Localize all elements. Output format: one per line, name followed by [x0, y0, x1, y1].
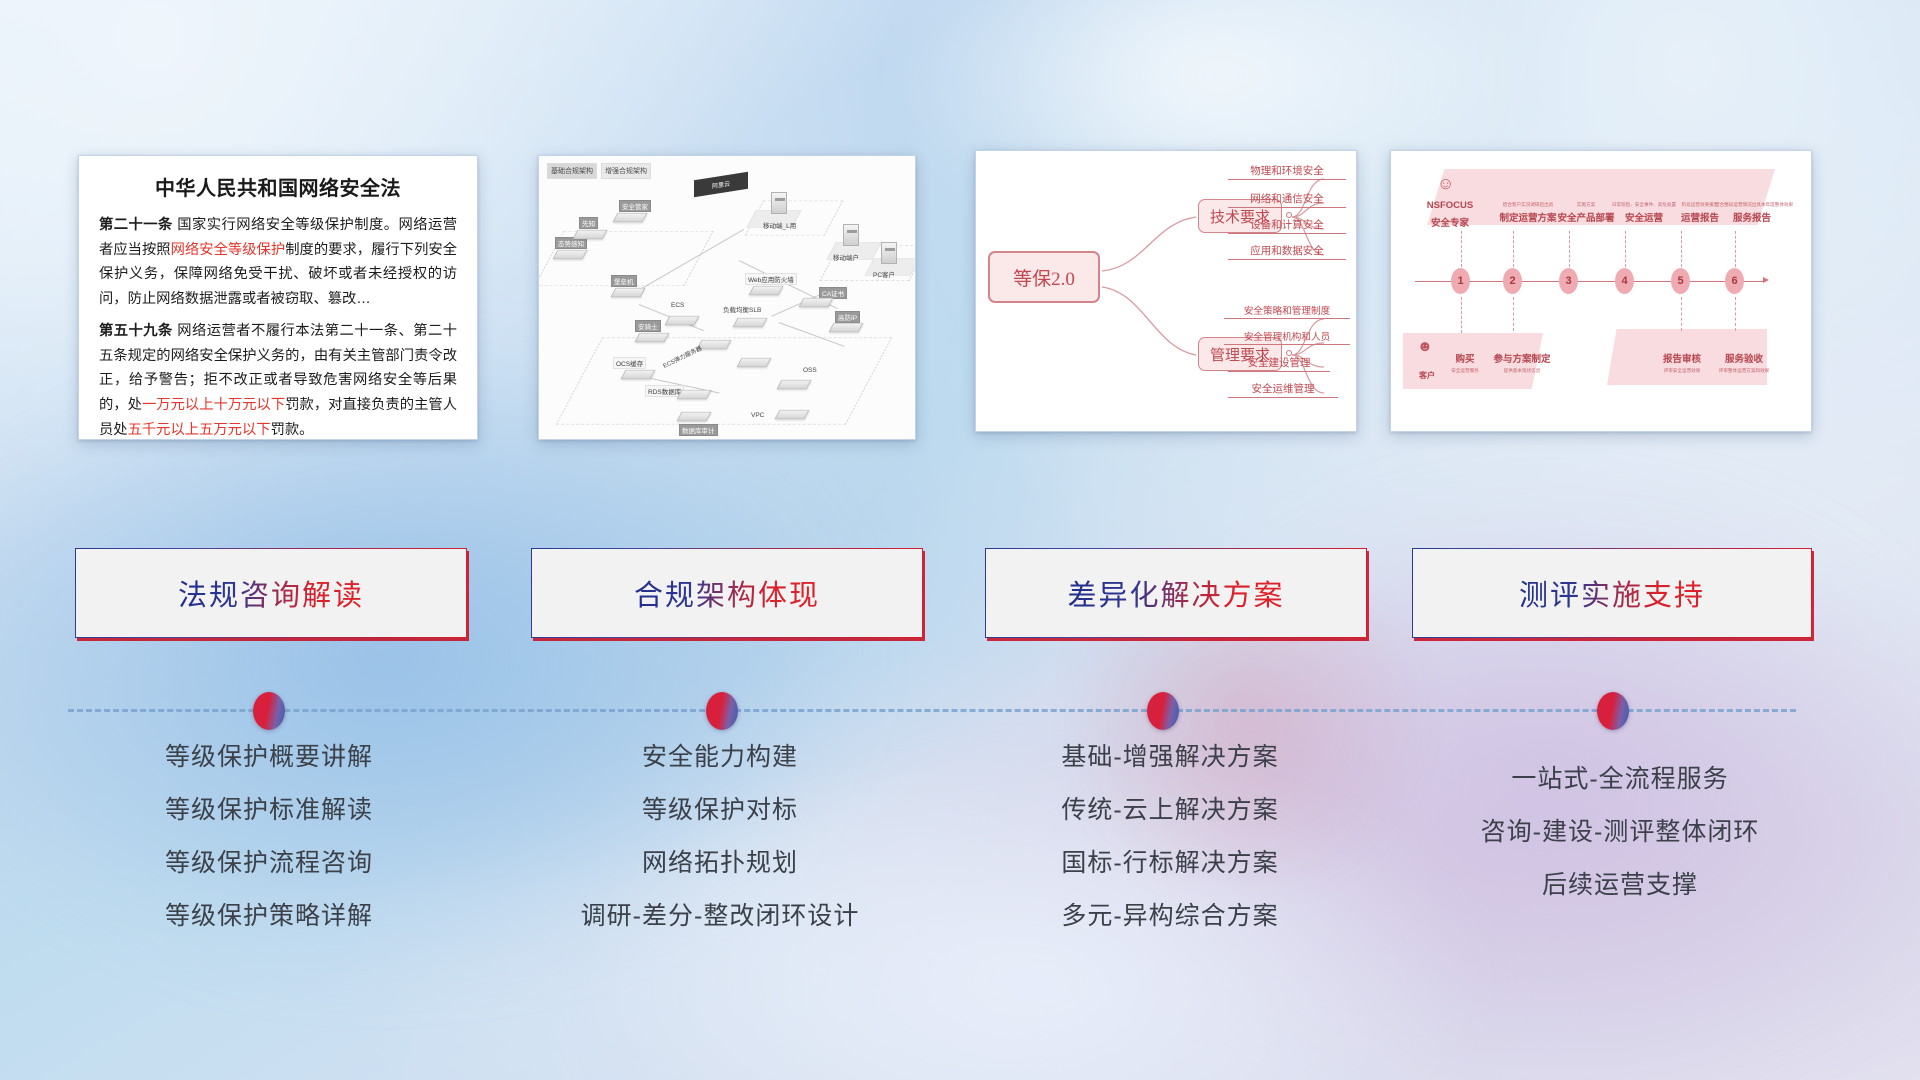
list-item[interactable]: 多元-异构综合方案 — [950, 904, 1390, 929]
list-item[interactable]: 等级保护对标 — [500, 798, 940, 823]
timeline-marker-3[interactable] — [1147, 692, 1179, 730]
section-title-box-3[interactable]: 差异化解决方案 — [985, 548, 1367, 638]
section-title-box-2[interactable]: 合规架构体现 — [531, 548, 923, 638]
section-title-2: 合规架构体现 — [634, 572, 820, 614]
list-item[interactable]: 安全能力构建 — [500, 745, 940, 770]
list-item[interactable]: 基础-增强解决方案 — [950, 745, 1390, 770]
list-item[interactable]: 后续运营支撑 — [1400, 873, 1840, 898]
list-item[interactable]: 等级保护标准解读 — [49, 798, 489, 823]
section-title-box-4[interactable]: 测评实施支持 — [1412, 548, 1812, 638]
section-timeline — [0, 690, 1920, 730]
list-item[interactable]: 等级保护策略详解 — [49, 904, 489, 929]
detail-list-2: 安全能力构建 等级保护对标 网络拓扑规划 调研-差分-整改闭环设计 — [500, 745, 940, 957]
detail-list-4: 一站式-全流程服务 咨询-建设-测评整体闭环 后续运营支撑 — [1400, 767, 1840, 926]
list-item[interactable]: 调研-差分-整改闭环设计 — [500, 904, 940, 929]
detail-list-3: 基础-增强解决方案 传统-云上解决方案 国标-行标解决方案 多元-异构综合方案 — [950, 745, 1390, 957]
list-item[interactable]: 一站式-全流程服务 — [1400, 767, 1840, 792]
section-title-1: 法规咨询解读 — [178, 572, 364, 614]
list-item[interactable]: 网络拓扑规划 — [500, 851, 940, 876]
section-detail-columns: 等级保护概要讲解 等级保护标准解读 等级保护流程咨询 等级保护策略详解 安全能力… — [0, 735, 1920, 985]
list-item[interactable]: 咨询-建设-测评整体闭环 — [1400, 820, 1840, 845]
list-item[interactable]: 等级保护流程咨询 — [49, 851, 489, 876]
list-item[interactable]: 传统-云上解决方案 — [950, 798, 1390, 823]
section-title-box-1[interactable]: 法规咨询解读 — [75, 548, 467, 638]
timeline-marker-1[interactable] — [253, 692, 285, 730]
timeline-marker-4[interactable] — [1597, 692, 1629, 730]
list-item[interactable]: 国标-行标解决方案 — [950, 851, 1390, 876]
section-title-4: 测评实施支持 — [1519, 572, 1705, 614]
section-title-3: 差异化解决方案 — [1067, 572, 1284, 614]
timeline-dashed-line — [68, 709, 1796, 712]
detail-list-1: 等级保护概要讲解 等级保护标准解读 等级保护流程咨询 等级保护策略详解 — [49, 745, 489, 957]
list-item[interactable]: 等级保护概要讲解 — [49, 745, 489, 770]
timeline-marker-2[interactable] — [706, 692, 738, 730]
